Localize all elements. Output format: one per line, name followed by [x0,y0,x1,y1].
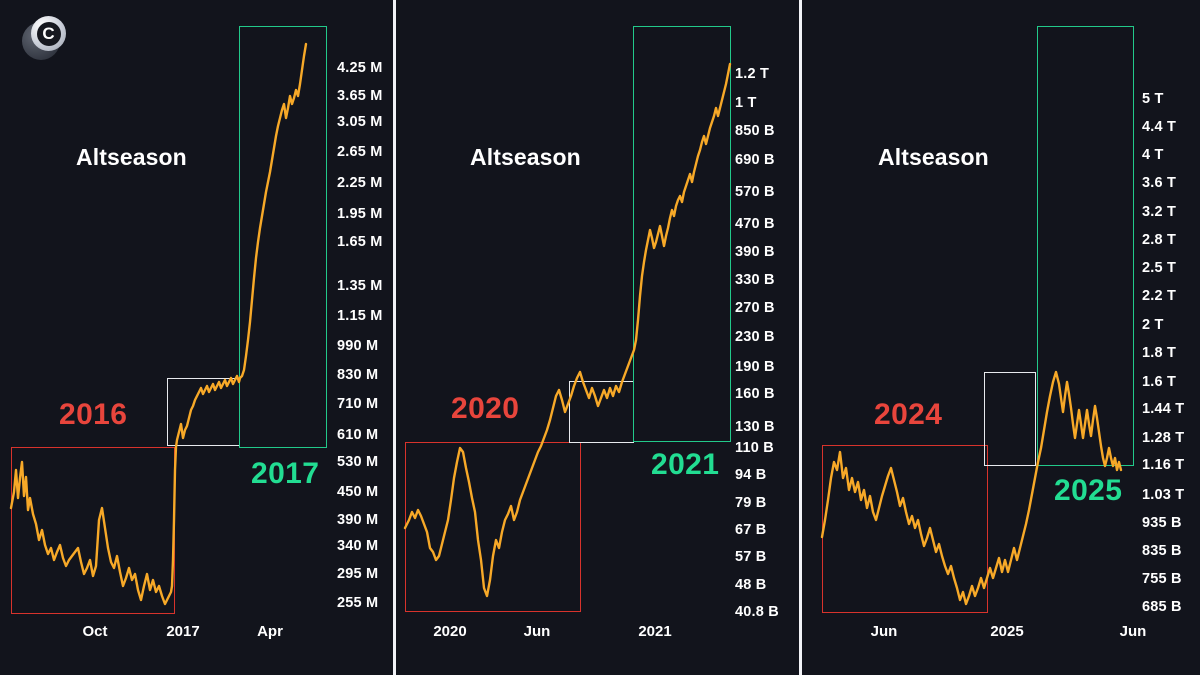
x-tick-label: 2021 [638,623,671,640]
panel-title-3: Altseason [878,144,989,171]
price-line-3 [802,0,1200,675]
bull-year-label-1: 2017 [251,457,319,491]
x-tick-label: 2020 [433,623,466,640]
x-tick-label: Jun [1120,623,1147,640]
bull-year-label-2: 2021 [651,448,719,482]
x-axis-ticks-2: 2020Jun2021 [396,623,799,643]
x-tick-label: Apr [257,623,283,640]
panel-title-1: Altseason [76,144,187,171]
bear-year-label-2: 2020 [451,392,519,426]
x-tick-label: Oct [82,623,107,640]
x-tick-label: 2025 [990,623,1023,640]
x-axis-ticks-1: Oct2017Apr [0,623,393,643]
panel-title-2: Altseason [470,144,581,171]
panel-2020-2021: Altseason 2020 2021 1.2 T1 T850 B690 B57… [396,0,799,675]
bear-year-label-1: 2016 [59,398,127,432]
x-tick-label: 2017 [166,623,199,640]
price-line-1 [0,0,393,675]
altseason-comparison-chart: C Altseason 2016 2017 4.25 M3.65 M3.05 M… [0,0,1200,675]
x-tick-label: Jun [524,623,551,640]
panel-2024-2025: Altseason 2024 2025 5 T4.4 T4 T3.6 T3.2 … [802,0,1200,675]
bear-year-label-3: 2024 [874,398,942,432]
panel-2016-2017: Altseason 2016 2017 4.25 M3.65 M3.05 M2.… [0,0,393,675]
bull-year-label-3: 2025 [1054,474,1122,508]
price-line-2 [396,0,799,675]
x-tick-label: Jun [871,623,898,640]
x-axis-ticks-3: Jun2025Jun [802,623,1200,643]
